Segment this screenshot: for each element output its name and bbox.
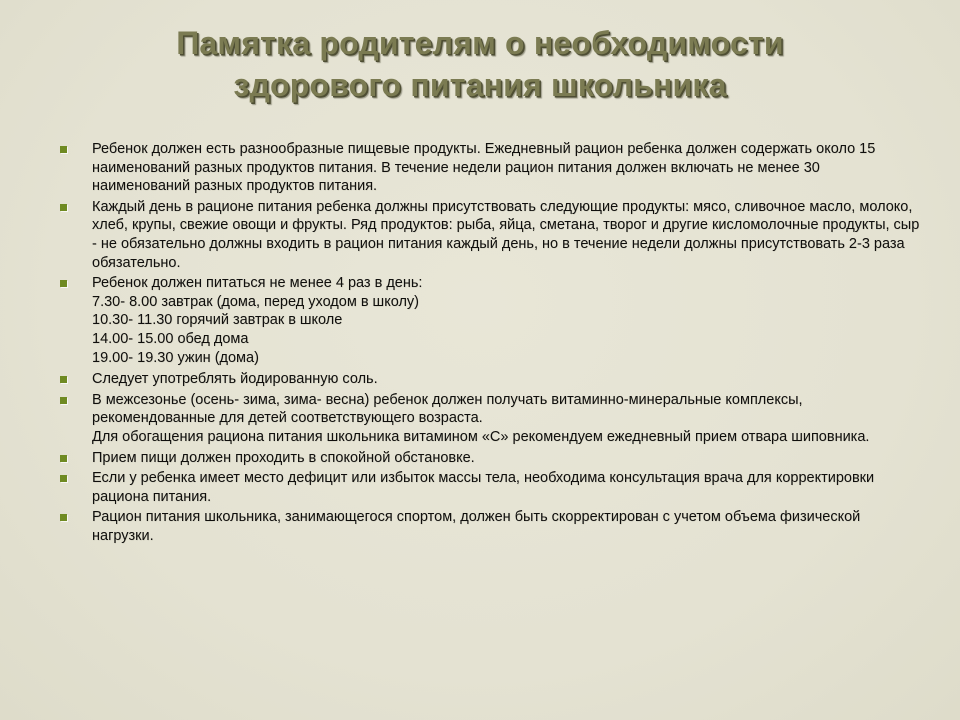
square-bullet-icon: [60, 280, 67, 287]
list-item: Если у ребенка имеет место дефицит или и…: [52, 469, 920, 506]
list-item: Следует употреблять йодированную соль.: [52, 370, 920, 389]
bullet-iodized-salt: Следует употреблять йодированную соль.: [92, 370, 920, 389]
square-bullet-icon: [60, 204, 67, 211]
square-bullet-icon: [60, 514, 67, 521]
bullet-varied-foods: Ребенок должен есть разнообразные пищевы…: [92, 140, 920, 196]
page-title-line-2: здорового питания школьника: [60, 64, 900, 106]
bullet-list: Ребенок должен есть разнообразные пищевы…: [52, 140, 920, 547]
slide-canvas: Памятка родителям о необходимости здоров…: [0, 0, 960, 720]
square-bullet-icon: [60, 455, 67, 462]
list-item: Прием пищи должен проходить в спокойной …: [52, 449, 920, 468]
square-bullet-icon: [60, 146, 67, 153]
bullet-weight-deficit: Если у ребенка имеет место дефицит или и…: [92, 469, 920, 506]
bullet-vitamins: В межсезонье (осень- зима, зима- весна) …: [92, 391, 920, 447]
bullet-sport-nutrition: Рацион питания школьника, занимающегося …: [92, 508, 920, 545]
bullet-meal-schedule: Ребенок должен питаться не менее 4 раз в…: [92, 274, 920, 367]
square-bullet-icon: [60, 376, 67, 383]
square-bullet-icon: [60, 475, 67, 482]
bullet-daily-products: Каждый день в рационе питания ребенка до…: [92, 198, 920, 272]
square-bullet-icon: [60, 397, 67, 404]
list-item: Ребенок должен питаться не менее 4 раз в…: [52, 274, 920, 367]
list-item: В межсезонье (осень- зима, зима- весна) …: [52, 391, 920, 447]
page-title-line-1: Памятка родителям о необходимости: [60, 22, 900, 64]
bullet-calm-environment: Прием пищи должен проходить в спокойной …: [92, 449, 920, 468]
list-item: Рацион питания школьника, занимающегося …: [52, 508, 920, 545]
page-title: Памятка родителям о необходимости здоров…: [60, 22, 900, 106]
list-item: Каждый день в рационе питания ребенка до…: [52, 198, 920, 272]
list-item: Ребенок должен есть разнообразные пищевы…: [52, 140, 920, 196]
